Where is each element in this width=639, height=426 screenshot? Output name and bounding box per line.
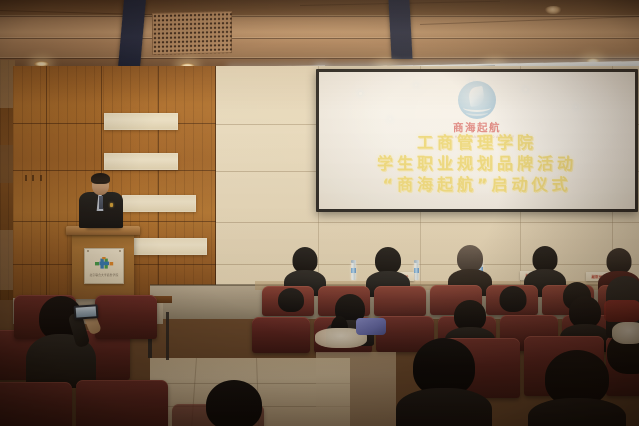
water-bottle[interactable]: [351, 262, 356, 280]
wall-acoustic-panel: [104, 153, 178, 170]
water-bottle[interactable]: [414, 262, 419, 280]
podium-plaque: 北京联合大学商务学院: [84, 248, 124, 284]
slide-title: 工商管理学院 学生职业规划品牌活动 “商海起航”启动仪式: [319, 133, 635, 195]
theater-seat[interactable]: [374, 286, 426, 316]
bag: [356, 318, 386, 335]
slide-title-line-3: “商海起航”启动仪式: [319, 174, 635, 195]
ceiling-speaker-icon: [545, 6, 562, 14]
ceiling: [0, 0, 639, 70]
slide-logo: 商海起航 SHANG HAI QI HANG BRAND ACTIVITY: [422, 81, 532, 139]
speaker-glasses-icon: [93, 182, 107, 187]
smartphone[interactable]: [74, 304, 99, 320]
floor-aisle-right: [316, 352, 396, 426]
theater-seat[interactable]: [0, 382, 72, 426]
attendee: [272, 288, 310, 320]
fur-collar: [612, 322, 639, 344]
attendee-coat: [604, 300, 639, 322]
podium-plaque-text: 北京联合大学商务学院: [84, 273, 124, 277]
slide-title-line-1: 工商管理学院: [319, 133, 635, 153]
slide-title-line-2: 学生职业规划品牌活动: [319, 153, 635, 174]
wall-acoustic-panel: [104, 113, 178, 130]
ceiling-acoustic-panel: [152, 11, 232, 55]
hanging-banner-right: [388, 0, 412, 59]
speaker-badge: [110, 203, 113, 207]
sail-wave-circle-emblem: [458, 81, 496, 119]
attendee: [396, 338, 492, 426]
attendee: [188, 380, 280, 426]
projection-screen[interactable]: 商海起航 SHANG HAI QI HANG BRAND ACTIVITY 工商…: [319, 72, 635, 209]
theater-seat[interactable]: [252, 317, 310, 353]
wall-acoustic-panel: [133, 238, 207, 255]
chair-leg: [166, 312, 169, 360]
institution-cross-emblem-svg: [94, 257, 114, 270]
speaker-tie: [99, 196, 103, 209]
wall-acoustic-panel: [122, 195, 196, 212]
theater-seat[interactable]: [95, 295, 157, 339]
auditorium-photo: 商海起航 SHANG HAI QI HANG BRAND ACTIVITY 工商…: [0, 0, 639, 426]
theater-seat[interactable]: [76, 380, 168, 426]
